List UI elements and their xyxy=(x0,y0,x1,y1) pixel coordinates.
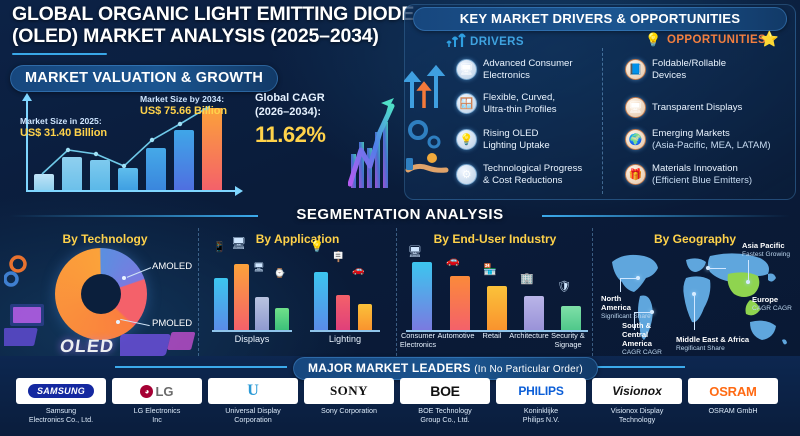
osram-logo: OSRAM xyxy=(709,384,756,399)
by-enduser-title: By End-User Industry xyxy=(400,232,590,246)
company-visionox[interactable]: Visionox Visionox Display Technology xyxy=(592,378,682,424)
driver-item-2[interactable]: 🪟 Flexible, Curved, Ultra-thin Profiles xyxy=(456,92,616,115)
market-leaders-note: (In No Particular Order) xyxy=(474,364,583,375)
market-size-2025-callout: Market Size in 2025: US$ 31.40 Billion xyxy=(20,116,107,140)
opportunity-2-line1: Transparent Displays xyxy=(652,102,742,113)
lg-logo-box: ◕ LG xyxy=(112,378,202,404)
line-north-america-v xyxy=(620,278,621,292)
market-leaders-header: MAJOR MARKET LEADERS (In No Particular O… xyxy=(293,357,598,380)
region-label-south-america: South & Central America CAGR CAGR xyxy=(622,322,672,357)
opportunity-item-1[interactable]: 📘 Foldable/Rollable Devices xyxy=(625,58,785,81)
driver-1-line2: Electronics xyxy=(483,70,530,81)
segmentation-label: SEGMENTATION ANALYSIS xyxy=(296,206,503,223)
opportunity-item-2[interactable]: 🖥 Transparent Displays xyxy=(625,97,785,118)
visionox-logo: Visionox xyxy=(612,384,662,398)
opportunity-item-4[interactable]: 🎁 Materials Innovation (Efficient Blue E… xyxy=(625,163,785,186)
market-valuation-label: MARKET VALUATION & GROWTH xyxy=(10,65,278,92)
devices-illustration xyxy=(4,252,60,352)
growth-arrow-graphic xyxy=(348,92,398,190)
monitor-icon: 🖥 xyxy=(456,59,477,80)
title-line-1: GLOBAL ORGANIC LIGHT EMITTING DIODE xyxy=(12,4,420,26)
visionox-logo-box: Visionox xyxy=(592,378,682,404)
samsung-name: Samsung Electronics Co., Ltd. xyxy=(16,407,106,424)
enduser-bar-4 xyxy=(524,296,544,330)
seg-divider-3 xyxy=(592,228,593,356)
philips-name: Koninklijke Philips N.V. xyxy=(496,407,586,424)
y-axis xyxy=(26,100,28,192)
lighting-group-label: Lighting xyxy=(308,334,382,344)
amoled-label: AMOLED xyxy=(152,261,192,272)
samsung-logo: SAMSUNG xyxy=(28,384,94,398)
bulb-icon: 💡 xyxy=(310,240,324,253)
infographic-root: GLOBAL ORGANIC LIGHT EMITTING DIODE (OLE… xyxy=(0,0,800,436)
sony-name: Sony Corporation xyxy=(304,407,394,416)
enduser-bar-5 xyxy=(561,306,581,330)
cagr-label-line-1: Global CAGR xyxy=(255,92,350,106)
displays-baseline xyxy=(212,330,292,332)
philips-logo-box: PHILIPS xyxy=(496,378,586,404)
driver-item-3[interactable]: 💡 Rising OLED Lighting Uptake xyxy=(456,128,616,151)
line-asia-pacific xyxy=(748,260,749,282)
tablet-illustration xyxy=(120,330,198,358)
company-philips[interactable]: PHILIPS Koninklijke Philips N.V. xyxy=(496,378,586,424)
boe-logo: BOE xyxy=(430,383,459,399)
company-universal-display[interactable]: U Universal Display Corporation xyxy=(208,378,298,424)
page-title: GLOBAL ORGANIC LIGHT EMITTING DIODE (OLE… xyxy=(12,4,420,55)
company-logo-list: SAMSUNG Samsung Electronics Co., Ltd. ◕ … xyxy=(16,378,784,424)
driver-3-line1: Rising OLED xyxy=(483,128,538,139)
driver-4-line1: Technological Progress xyxy=(483,163,582,174)
lighting-baseline xyxy=(310,330,380,332)
drivers-section-header: KEY MARKET DRIVERS & OPPORTUNITIES xyxy=(413,7,787,31)
pmoled-dot xyxy=(116,320,120,324)
opportunity-3-line2: (Asia-Pacific, MEA, LATAM) xyxy=(652,140,771,151)
title-underline xyxy=(12,53,107,55)
philips-logo: PHILIPS xyxy=(518,384,563,398)
line-europe xyxy=(708,268,726,269)
store-icon: 🏪 xyxy=(483,263,497,276)
cagr-label-line-2: (2026–2034): xyxy=(255,106,350,120)
company-sony[interactable]: SONY Sony Corporation xyxy=(304,378,394,424)
driver-1-line1: Advanced Consumer xyxy=(483,58,573,69)
market-size-2034-callout: Market Size by 2034: US$ 75.66 Billion xyxy=(140,94,227,118)
udc-name: Universal Display Corporation xyxy=(208,407,298,424)
region-label-north-america: North America Significant Share xyxy=(601,295,653,321)
opportunity-4-line2: (Efficient Blue Emitters) xyxy=(652,175,752,186)
company-boe[interactable]: BOE BOE Technology Group Co., Ltd. xyxy=(400,378,490,424)
sony-logo: SONY xyxy=(330,383,368,399)
building-icon: 🏢 xyxy=(520,272,534,285)
lightbulb-icon: 💡 xyxy=(456,129,477,150)
display-icon: 🖥 xyxy=(625,97,646,118)
enduser-bar-3 xyxy=(487,286,507,330)
boe-logo-box: BOE xyxy=(400,378,490,404)
gear-icon: ⚙ xyxy=(456,164,477,185)
lg-name: LG Electronics Inc xyxy=(112,407,202,424)
smartwatch-icon: ⌚ xyxy=(274,268,285,279)
samsung-logo-box: SAMSUNG xyxy=(16,378,106,404)
technology-donut-chart xyxy=(55,248,147,340)
amoled-dot xyxy=(122,276,126,280)
opportunity-1-line2: Devices xyxy=(652,70,686,81)
displays-bar-2 xyxy=(234,264,249,330)
driver-3-line2: Lighting Uptake xyxy=(483,140,550,151)
materials-icon: 🎁 xyxy=(625,164,646,185)
driver-2-line1: Flexible, Curved, xyxy=(483,92,555,103)
opportunity-3-line1: Emerging Markets xyxy=(652,128,730,139)
driver-item-4[interactable]: ⚙ Technological Progress & Cost Reductio… xyxy=(456,163,616,186)
company-lg[interactable]: ◕ LG LG Electronics Inc xyxy=(112,378,202,424)
sony-logo-box: SONY xyxy=(304,378,394,404)
opportunity-1-line1: Foldable/Rollable xyxy=(652,58,726,69)
lighting-bar-2 xyxy=(336,295,350,330)
enduser-bar-2 xyxy=(450,276,470,330)
boe-name: BOE Technology Group Co., Ltd. xyxy=(400,407,490,424)
region-label-asia-pacific: Asia Pacific Fastest Growing xyxy=(742,242,800,259)
monitor-icon: 🖥 xyxy=(253,262,264,273)
udc-logo: U xyxy=(247,382,259,400)
opportunity-item-3[interactable]: 🌍 Emerging Markets (Asia-Pacific, MEA, L… xyxy=(625,128,785,151)
drivers-section-label: KEY MARKET DRIVERS & OPPORTUNITIES xyxy=(413,7,787,31)
tv-icon: 🖥 xyxy=(231,236,246,250)
visionox-name: Visionox Display Technology xyxy=(592,407,682,424)
displays-bar-1 xyxy=(214,278,228,330)
osram-logo-box: OSRAM xyxy=(688,378,778,404)
seg-divider-1 xyxy=(198,228,199,356)
globe-icon: 🌍 xyxy=(625,129,646,150)
title-line-2: (OLED) MARKET ANALYSIS (2025–2034) xyxy=(12,26,420,48)
cagr-callout: Global CAGR (2026–2034): 11.62% xyxy=(255,92,350,148)
udc-logo-box: U xyxy=(208,378,298,404)
line-mea xyxy=(694,296,695,330)
company-osram[interactable]: OSRAM OSRAM GmbH xyxy=(688,378,778,424)
by-technology-title: By Technology xyxy=(20,232,190,246)
company-samsung[interactable]: SAMSUNG Samsung Electronics Co., Ltd. xyxy=(16,378,106,424)
line-north-america xyxy=(620,278,638,279)
smartphone-icon: 📱 xyxy=(213,242,225,253)
leaders-rule-left xyxy=(115,366,287,368)
driver-2-line2: Ultra-thin Profiles xyxy=(483,104,557,115)
streetlight-icon: 🪧 xyxy=(332,252,344,263)
x-axis xyxy=(26,190,236,192)
region-label-mea: Middle East & Africa Regificant Share xyxy=(676,336,768,353)
pmoled-label: PMOLED xyxy=(152,318,192,329)
market-leaders-label: MAJOR MARKET LEADERS xyxy=(308,361,471,375)
lg-circle-icon: ◕ xyxy=(140,385,153,398)
enduser-tick-5: Security & Signage xyxy=(546,332,590,349)
displays-group-label: Displays xyxy=(212,334,292,344)
displays-bar-4 xyxy=(275,308,289,330)
drivers-heading: DRIVERS xyxy=(470,36,524,48)
foldable-icon: 📘 xyxy=(625,59,646,80)
car-icon: 🚗 xyxy=(446,254,460,267)
segmentation-header: SEGMENTATION ANALYSIS xyxy=(0,206,800,224)
lighting-bar-1 xyxy=(314,272,328,330)
lg-logo: ◕ LG xyxy=(140,384,173,399)
market-valuation-header: MARKET VALUATION & GROWTH xyxy=(10,65,278,92)
shield-lock-icon: 🛡 xyxy=(557,280,571,293)
opportunity-4-line1: Materials Innovation xyxy=(652,163,738,174)
opportunities-heading: OPPORTUNITIES xyxy=(667,34,766,46)
osram-name: OSRAM GmbH xyxy=(688,407,778,416)
region-label-europe: Europe CAGR CAGR xyxy=(752,296,798,313)
driver-4-line2: & Cost Reductions xyxy=(483,175,562,186)
displays-bar-3 xyxy=(255,297,269,330)
driver-item-1[interactable]: 🖥 Advanced Consumer Electronics xyxy=(456,58,616,81)
car-icon: 🚗 xyxy=(352,265,364,276)
cagr-value: 11.62% xyxy=(255,122,350,148)
devices-icon: 🖥 xyxy=(408,245,422,258)
lighting-bar-3 xyxy=(358,304,372,330)
enduser-bar-1 xyxy=(412,262,432,330)
curved-screen-icon: 🪟 xyxy=(456,93,477,114)
